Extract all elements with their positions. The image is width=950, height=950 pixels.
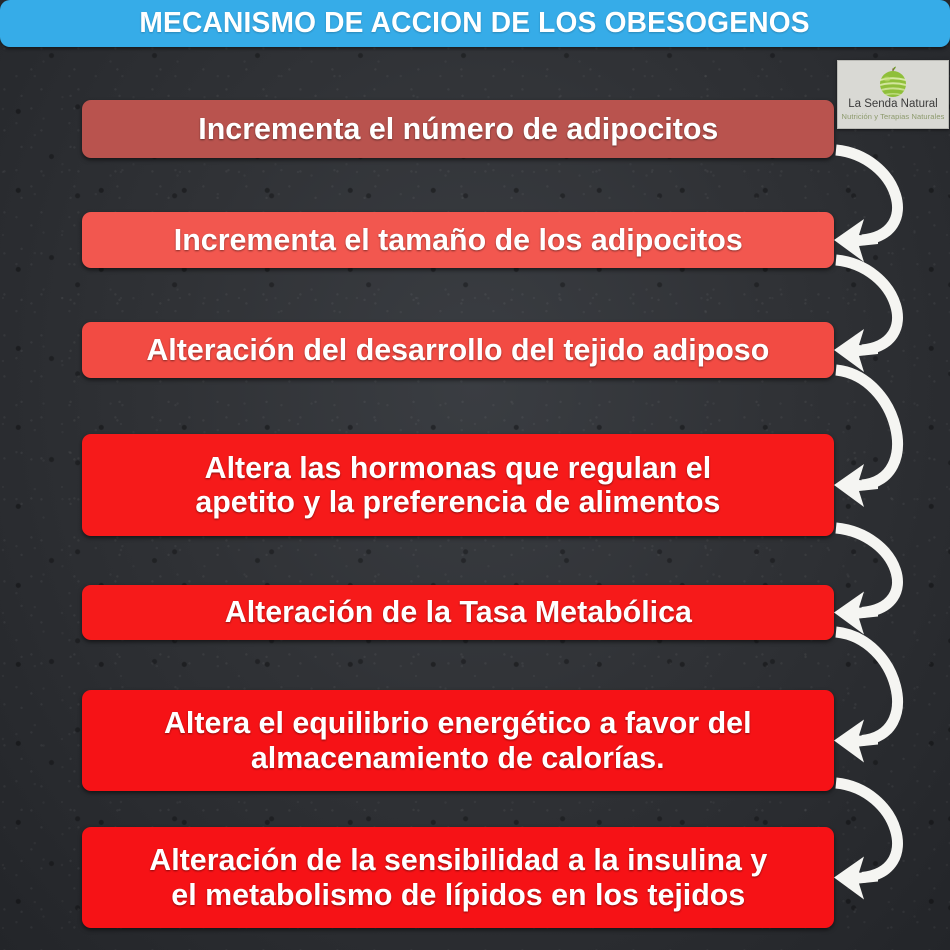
flow-step-box: Alteración de la Tasa Metabólica <box>82 585 834 640</box>
connector-arrowhead <box>834 720 878 763</box>
connector-curve <box>836 370 897 485</box>
flow-step-box: Altera el equilibrio energético a favor … <box>82 690 834 791</box>
arrow-6-7 <box>834 783 897 900</box>
flow-step-box: Incrementa el tamaño de los adipocitos <box>82 212 834 268</box>
arrow-4-5 <box>834 528 897 635</box>
connector-curve <box>836 528 897 613</box>
connector-curve <box>836 783 897 878</box>
flow-step-label: Incrementa el tamaño de los adipocitos <box>174 223 743 257</box>
arrow-5-6 <box>834 632 897 763</box>
connector-arrowhead <box>834 857 878 900</box>
flow-step-box: Alteración del desarrollo del tejido adi… <box>82 322 834 378</box>
arrow-2-3 <box>834 260 897 372</box>
connector-arrowhead <box>834 219 878 262</box>
flow-step-label: Alteración del desarrollo del tejido adi… <box>147 333 770 367</box>
flow-step-label: Incrementa el número de adipocitos <box>198 112 718 146</box>
flow-step-label: Alteración de la Tasa Metabólica <box>224 595 691 629</box>
header-banner: MECANISMO DE ACCION DE LOS OBESOGENOS <box>0 0 950 47</box>
logo-tagline: Nutrición y Terapias Naturales <box>838 112 948 121</box>
connector-arrowhead <box>834 592 878 635</box>
flow-step-box: Altera las hormonas que regulan el apeti… <box>82 434 834 536</box>
connector-arrowhead <box>834 329 878 372</box>
arrow-1-2 <box>834 150 897 262</box>
brand-logo: La Senda Natural Nutrición y Terapias Na… <box>837 60 949 129</box>
arrow-3-4 <box>834 370 897 507</box>
flow-step-box: Alteración de la sensibilidad a la insul… <box>82 827 834 928</box>
connector-curve <box>836 150 897 240</box>
connector-curve <box>836 632 897 741</box>
connector-arrowhead <box>834 464 878 507</box>
infographic-canvas: MECANISMO DE ACCION DE LOS OBESOGENOS La… <box>0 0 950 950</box>
logo-brand-name: La Senda Natural <box>838 98 948 110</box>
page-title: MECANISMO DE ACCION DE LOS OBESOGENOS <box>140 9 810 38</box>
flow-step-label: Alteración de la sensibilidad a la insul… <box>149 843 767 911</box>
connector-curve <box>836 260 897 350</box>
flow-step-box: Incrementa el número de adipocitos <box>82 100 834 158</box>
flow-step-label: Altera el equilibrio energético a favor … <box>164 706 752 774</box>
flow-step-label: Altera las hormonas que regulan el apeti… <box>195 451 720 519</box>
green-apple-icon <box>876 66 910 98</box>
